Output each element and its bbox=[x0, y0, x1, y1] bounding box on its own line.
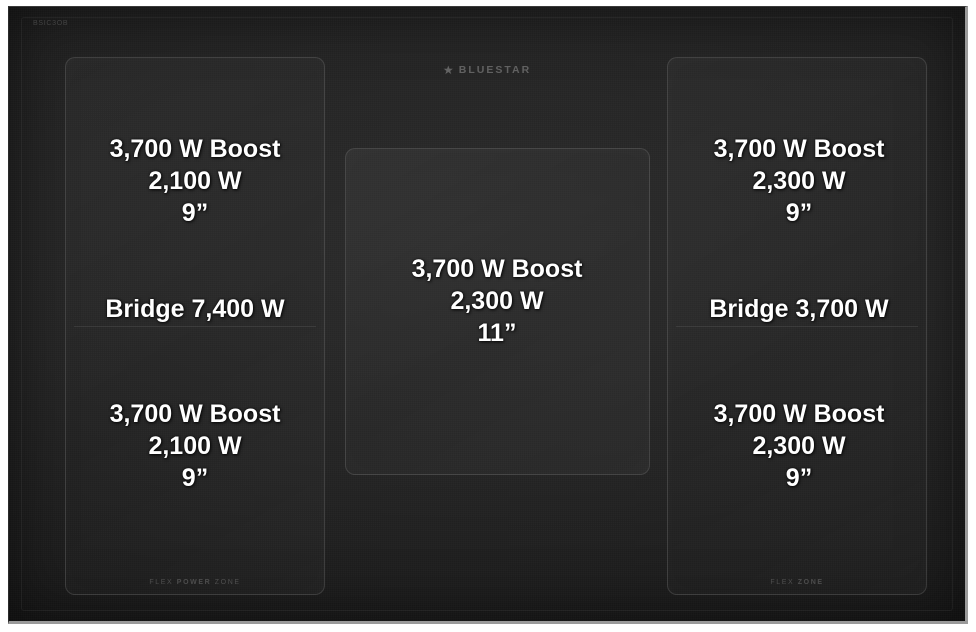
left-zone-etch-suffix: ZONE bbox=[211, 579, 240, 586]
left-bridge-spec: Bridge 7,400 W bbox=[47, 293, 343, 325]
right-bridge-power: Bridge 3,700 W bbox=[651, 293, 947, 325]
right-zone-etched-label: FLEX ZONE bbox=[668, 579, 926, 586]
left-upper-boost-power: 3,700 W Boost bbox=[47, 133, 343, 165]
right-lower-element-spec: 3,700 W Boost 2,300 W 9” bbox=[651, 398, 947, 494]
right-zone-divider bbox=[676, 326, 918, 327]
left-lower-diameter: 9” bbox=[47, 462, 343, 494]
right-lower-rated-power: 2,300 W bbox=[651, 430, 947, 462]
right-lower-diameter: 9” bbox=[651, 462, 947, 494]
left-zone-divider bbox=[74, 326, 316, 327]
left-zone-etch-prefix: FLEX bbox=[149, 579, 176, 586]
star-emblem-icon bbox=[443, 65, 454, 76]
left-upper-rated-power: 2,100 W bbox=[47, 165, 343, 197]
brand-name: BLUESTAR bbox=[459, 64, 531, 76]
model-marking: BSIC3OB bbox=[33, 20, 68, 27]
right-upper-rated-power: 2,300 W bbox=[651, 165, 947, 197]
left-upper-element-spec: 3,700 W Boost 2,100 W 9” bbox=[47, 133, 343, 229]
right-lower-boost-power: 3,700 W Boost bbox=[651, 398, 947, 430]
cooktop-diagram: BSIC3OB BLUESTAR FLEX POWER ZONE FLEX ZO… bbox=[0, 0, 976, 632]
left-zone-etched-label: FLEX POWER ZONE bbox=[66, 579, 324, 586]
right-upper-boost-power: 3,700 W Boost bbox=[651, 133, 947, 165]
cooktop-glass-surface: BSIC3OB BLUESTAR FLEX POWER ZONE FLEX ZO… bbox=[8, 6, 968, 624]
left-lower-rated-power: 2,100 W bbox=[47, 430, 343, 462]
right-upper-diameter: 9” bbox=[651, 197, 947, 229]
center-boost-power: 3,700 W Boost bbox=[349, 253, 645, 285]
left-bridge-power: Bridge 7,400 W bbox=[47, 293, 343, 325]
center-element-spec: 3,700 W Boost 2,300 W 11” bbox=[349, 253, 645, 349]
right-zone-etch-strong: ZONE bbox=[798, 579, 824, 586]
left-upper-diameter: 9” bbox=[47, 197, 343, 229]
right-zone-etch-prefix: FLEX bbox=[770, 579, 797, 586]
brand-logo: BLUESTAR bbox=[443, 64, 531, 76]
right-upper-element-spec: 3,700 W Boost 2,300 W 9” bbox=[651, 133, 947, 229]
left-lower-boost-power: 3,700 W Boost bbox=[47, 398, 343, 430]
left-lower-element-spec: 3,700 W Boost 2,100 W 9” bbox=[47, 398, 343, 494]
left-zone-etch-strong: POWER bbox=[177, 579, 211, 586]
right-bridge-spec: Bridge 3,700 W bbox=[651, 293, 947, 325]
center-diameter: 11” bbox=[349, 317, 645, 349]
center-rated-power: 2,300 W bbox=[349, 285, 645, 317]
